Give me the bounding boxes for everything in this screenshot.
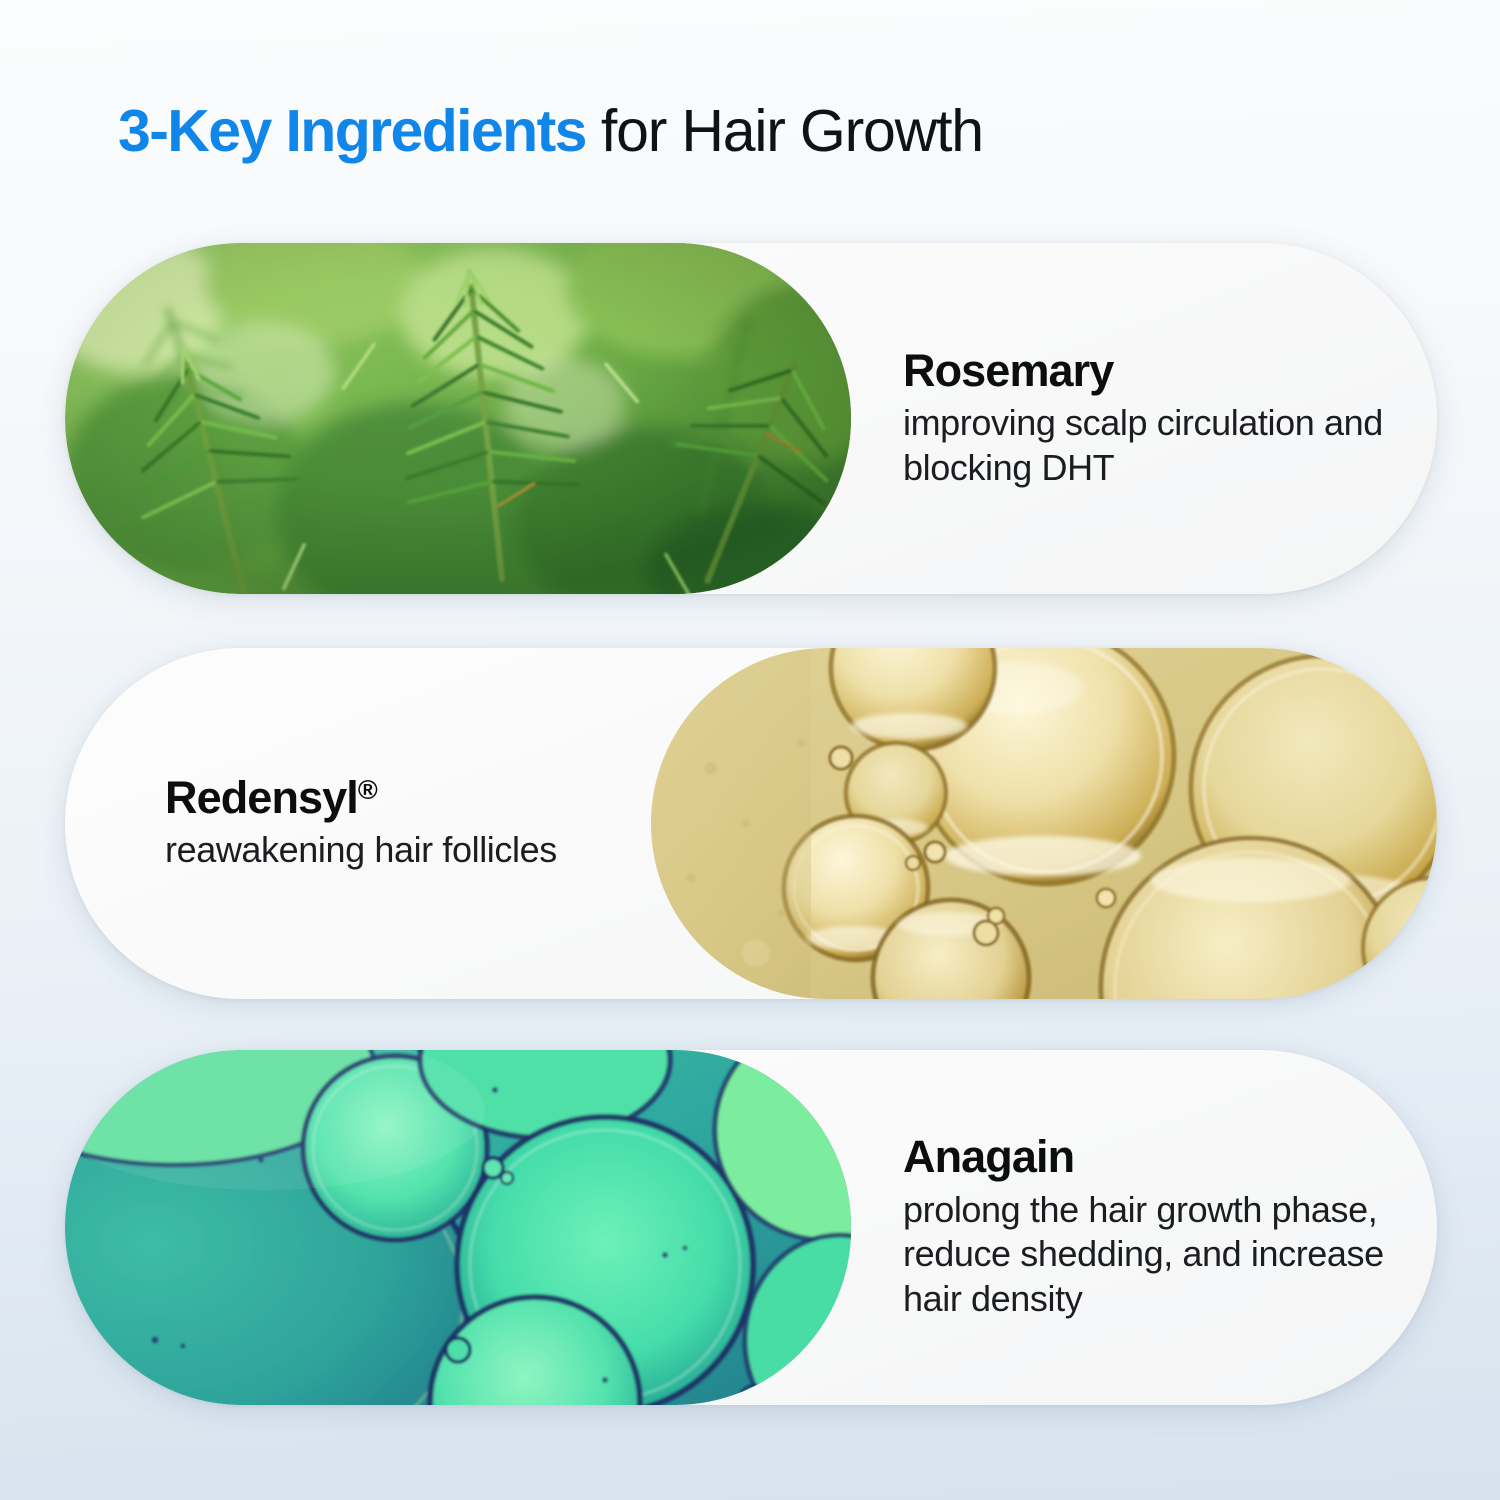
ingredient-text-rosemary: Rosemary improving scalp circulation and… [851,347,1437,491]
ingredient-name: Rosemary [903,347,1397,396]
ingredient-text-anagain: Anagain prolong the hair growth phase, r… [851,1133,1437,1321]
golden-oil-bubbles-photo [651,648,1437,999]
ingredient-description: improving scalp circulation and blocking… [903,401,1397,490]
page-title-rest: for Hair Growth [601,102,983,161]
page-title-accent: 3-Key Ingredients [118,102,586,161]
ingredient-text-redensyl: Redensyl® reawakening hair follicles [65,774,651,873]
ingredient-name-text: Redensyl [165,772,358,823]
ingredient-card-anagain: Anagain prolong the hair growth phase, r… [65,1050,1437,1405]
ingredient-card-rosemary: Rosemary improving scalp circulation and… [65,243,1437,594]
registered-trademark-icon: ® [358,775,378,805]
teal-oil-bubbles-photo [65,1050,851,1405]
ingredient-card-redensyl: Redensyl® reawakening hair follicles [65,648,1437,999]
ingredient-name: Anagain [903,1133,1397,1182]
ingredient-description: reawakening hair follicles [165,828,611,873]
ingredient-description: prolong the hair growth phase, reduce sh… [903,1188,1397,1322]
ingredient-name: Redensyl® [165,774,611,823]
page-title: 3-Key Ingredients for Hair Growth [118,86,1418,176]
rosemary-plant-photo [65,243,851,594]
